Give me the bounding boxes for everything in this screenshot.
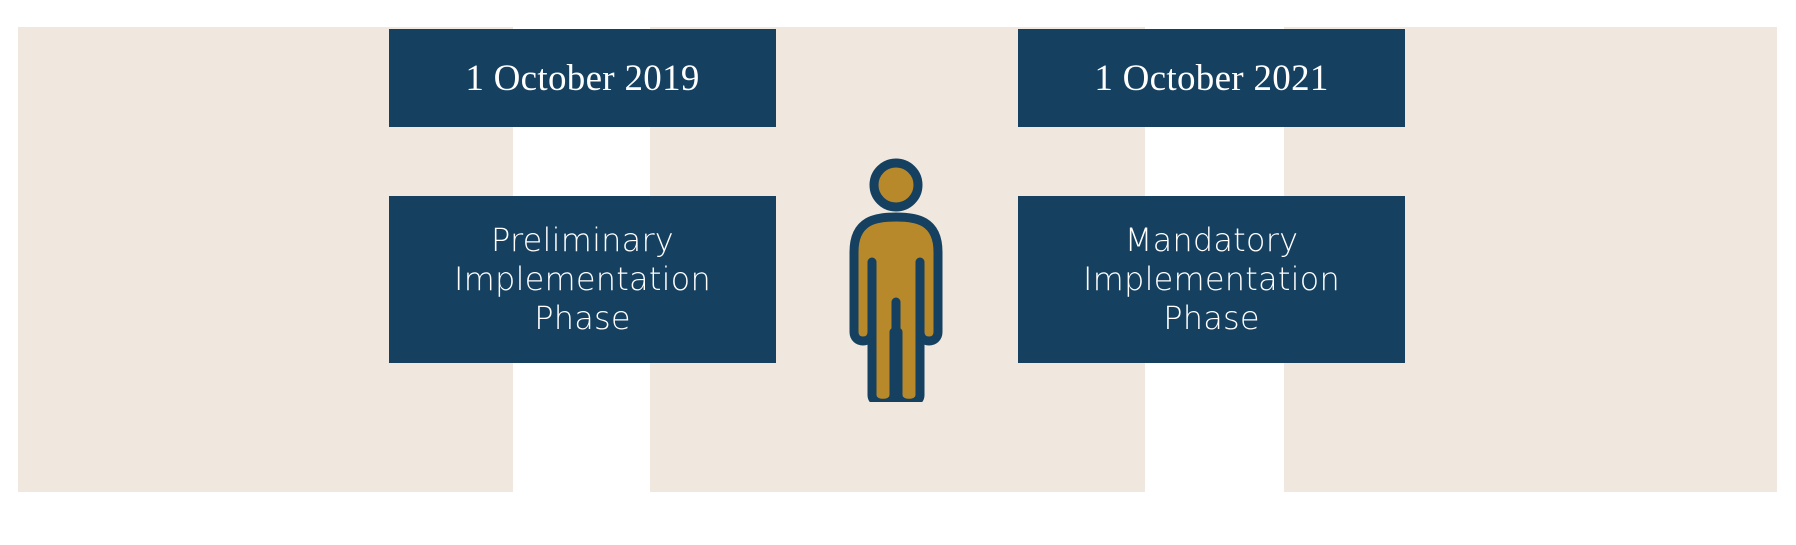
phase-box-mandatory: Mandatory Implementation Phase xyxy=(1018,196,1405,363)
phase-line-1: Preliminary xyxy=(491,221,674,259)
phase-line-2: Implementation xyxy=(1083,260,1340,298)
person-head xyxy=(874,163,918,207)
phase-label-preliminary: Preliminary Implementation Phase xyxy=(444,221,721,338)
phase-box-preliminary: Preliminary Implementation Phase xyxy=(389,196,776,363)
timeline-graphic: 1 October 2019 1 October 2021 Preliminar… xyxy=(0,0,1796,545)
person-icon xyxy=(832,152,962,402)
date-box-2019: 1 October 2019 xyxy=(389,29,776,127)
phase-line-2: Implementation xyxy=(454,260,711,298)
date-label-2021: 1 October 2021 xyxy=(1094,57,1328,100)
phase-line-3: Phase xyxy=(1163,299,1260,337)
date-label-2019: 1 October 2019 xyxy=(465,57,699,100)
phase-line-1: Mandatory xyxy=(1125,221,1298,259)
phase-label-mandatory: Mandatory Implementation Phase xyxy=(1073,221,1350,338)
date-box-2021: 1 October 2021 xyxy=(1018,29,1405,127)
phase-line-3: Phase xyxy=(534,299,631,337)
